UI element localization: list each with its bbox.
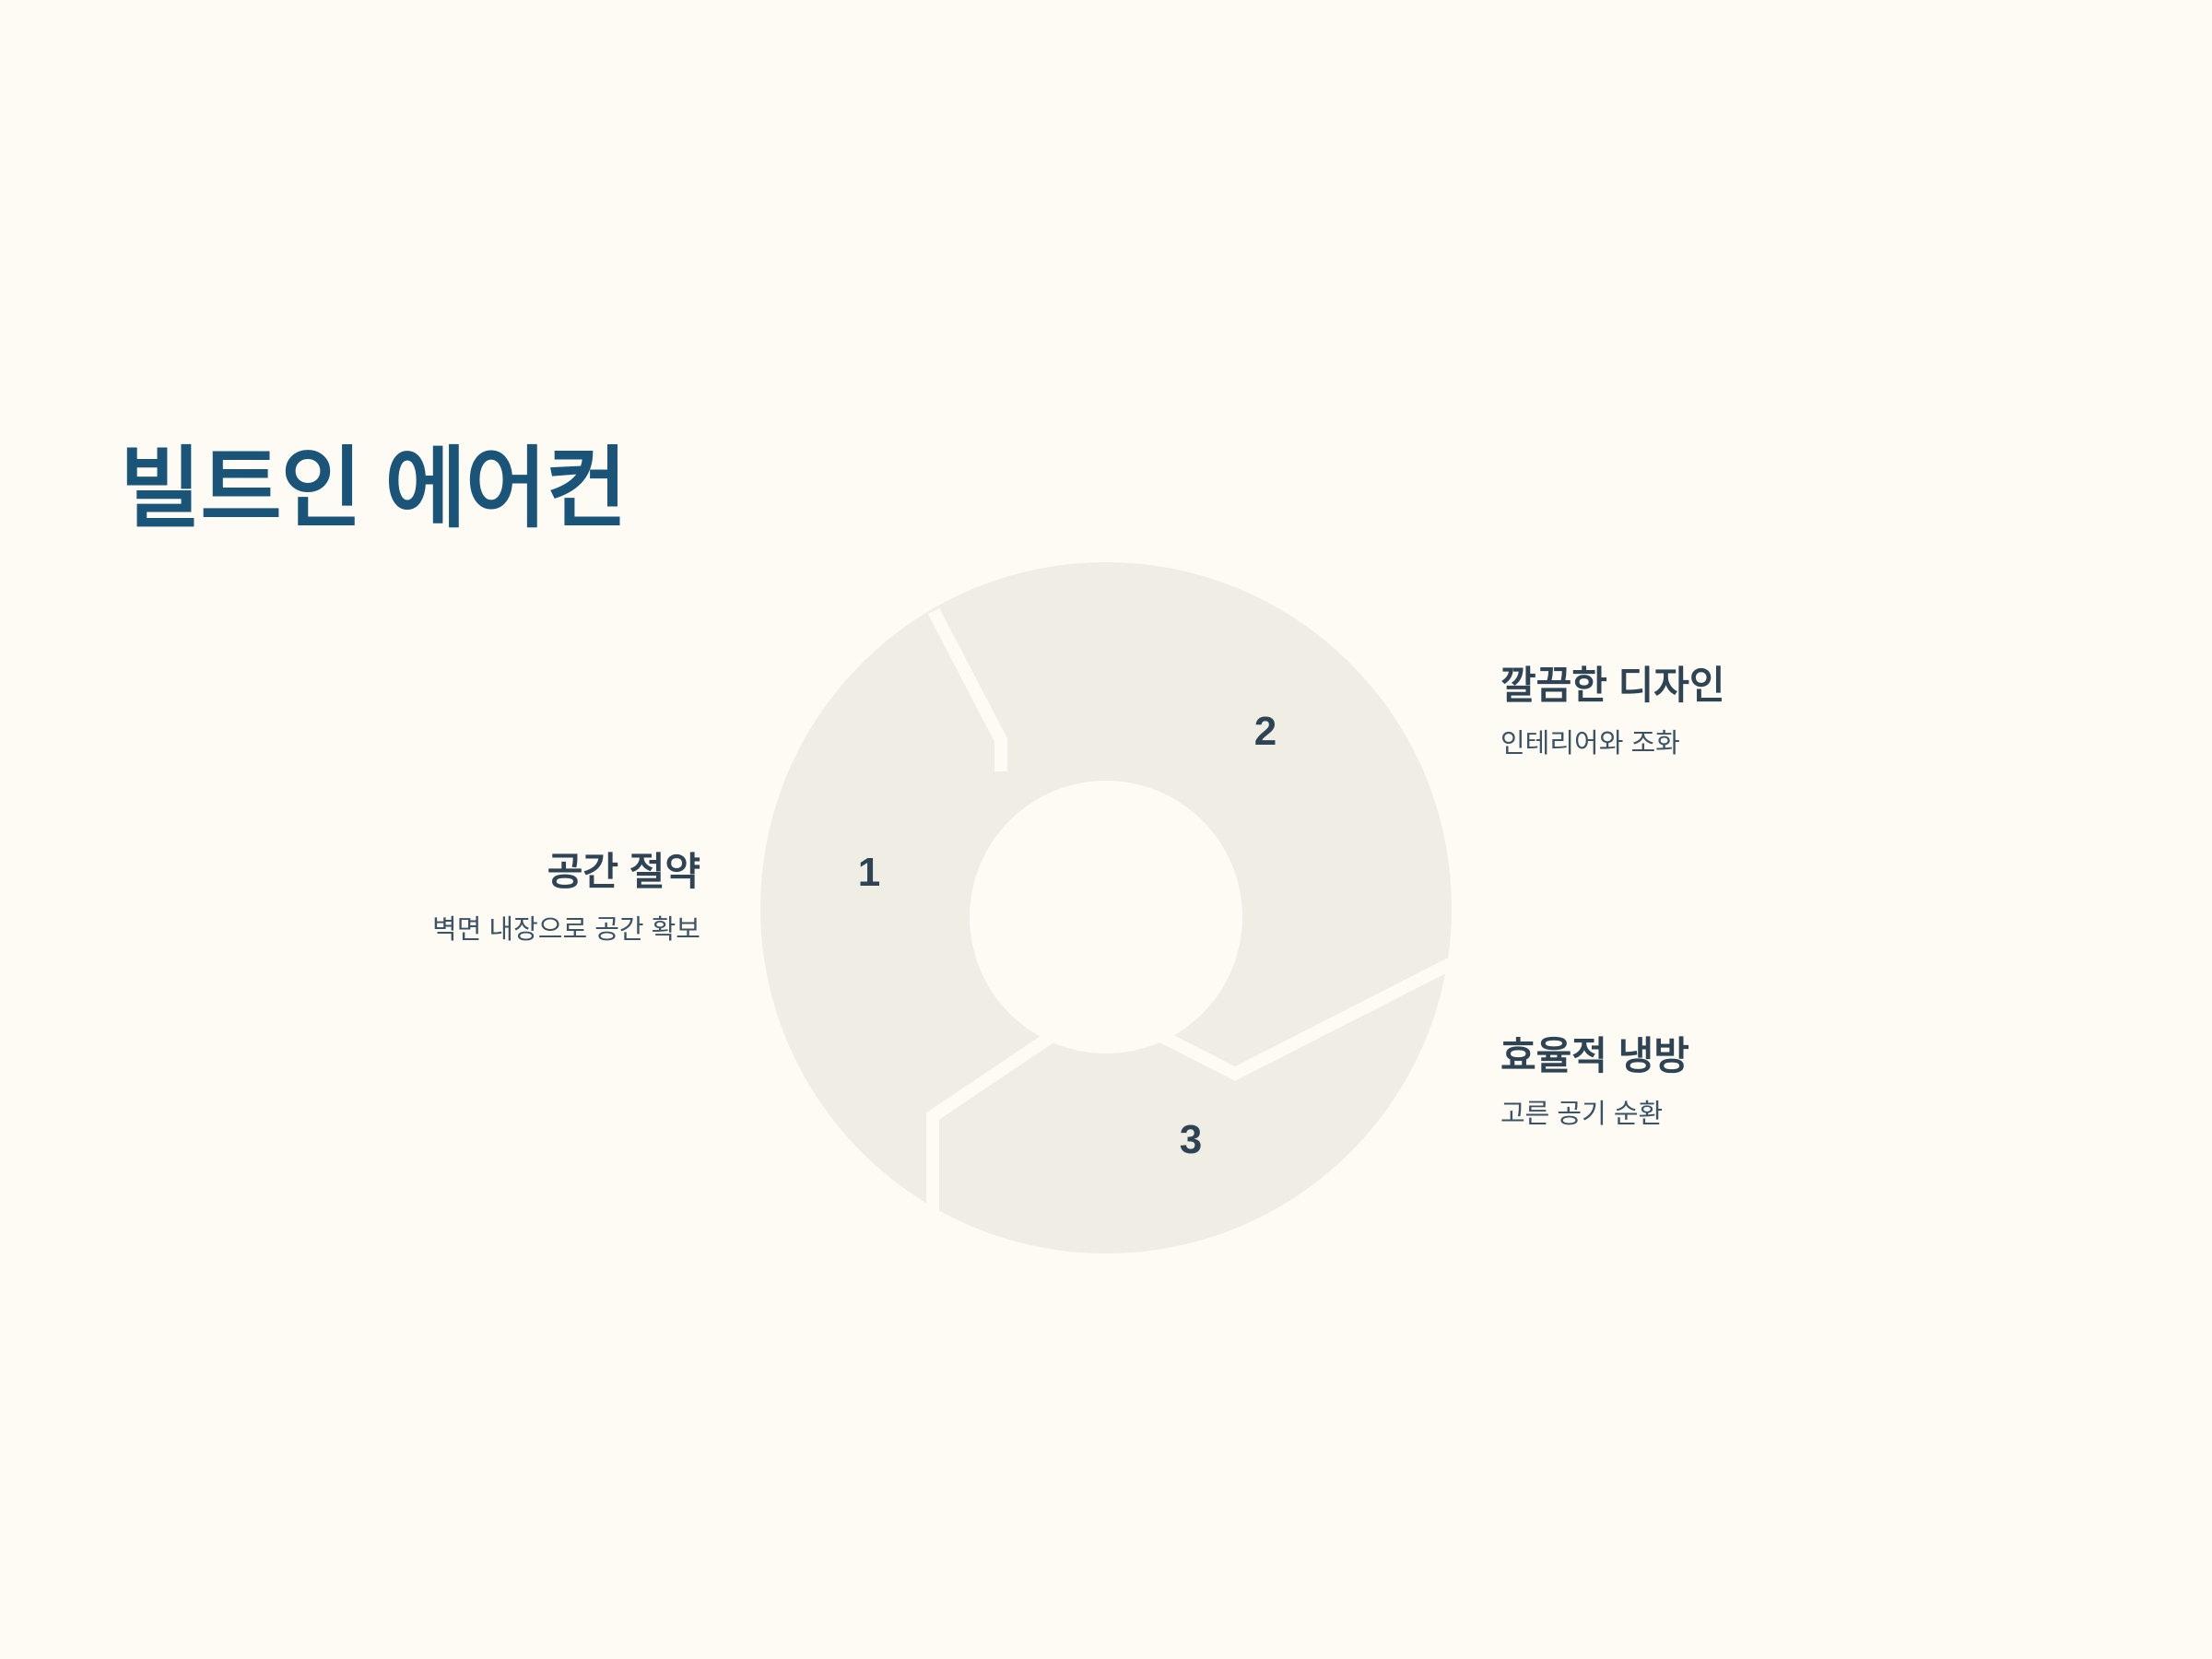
donut-chart-svg xyxy=(756,558,1456,1258)
callout-left-title: 공간 절약 xyxy=(74,848,700,897)
callout-bottom-right-subtitle: 고른 공기 순환 xyxy=(1500,1098,2146,1133)
callout-efficient-cooling: 효율적 냉방 고른 공기 순환 xyxy=(1500,1032,2146,1132)
callout-top-right-title: 깔끔한 디자인 xyxy=(1500,662,2146,711)
cycle-donut-diagram xyxy=(756,558,1456,1258)
page-title: 빌트인 에어컨 xyxy=(120,441,627,538)
donut-inner-hub xyxy=(970,781,1242,1053)
segment-number-2: 2 xyxy=(1229,712,1302,752)
callout-top-right-subtitle: 인테리어와 조화 xyxy=(1500,727,2146,762)
segment-number-3: 3 xyxy=(1154,1120,1228,1160)
callout-space-saving: 공간 절약 벽면 내장으로 공간 확보 xyxy=(74,848,700,947)
segment-number-1: 1 xyxy=(832,853,906,893)
callout-left-subtitle: 벽면 내장으로 공간 확보 xyxy=(74,913,700,948)
slide-canvas: 빌트인 에어컨 1 2 3 공간 절약 벽면 내장으로 공간 확보 깔끔한 디자… xyxy=(0,0,2212,1659)
callout-bottom-right-title: 효율적 냉방 xyxy=(1500,1032,2146,1081)
callout-clean-design: 깔끔한 디자인 인테리어와 조화 xyxy=(1500,662,2146,761)
